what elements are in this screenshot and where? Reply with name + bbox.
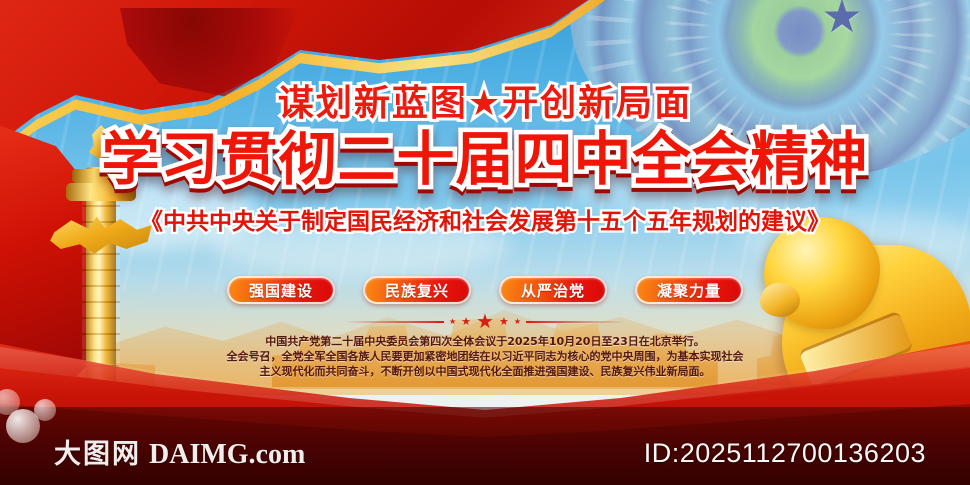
headline-subtitle: 《中共中央关于制定国民经济和社会发展第十五个五年规划的建议》: [0, 202, 970, 236]
headline-block: 谋划新蓝图★开创新局面 学习贯彻二十届四中全会精神 《中共中央关于制定国民经济和…: [0, 84, 970, 236]
watermark-domain: DAIMG.com: [149, 439, 305, 471]
pill-qiangguojianshe[interactable]: 强国建设: [227, 276, 335, 304]
pill-ningjuliliang[interactable]: 凝聚力量: [635, 276, 743, 304]
divider-star-center: ★: [476, 312, 494, 332]
headline-main-title: 学习贯彻二十届四中全会精神: [0, 128, 970, 192]
headline-line-1-part-a: 谋划新蓝图: [278, 83, 468, 124]
headline-star-icon: ★: [468, 83, 502, 124]
body-paragraph: 中国共产党第二十届中央委员会第四次全体会议于2025年10月20日至23日在北京…: [0, 334, 970, 379]
divider-star-sm-right: ★: [499, 317, 509, 328]
divider-rule-left: [344, 321, 444, 323]
paragraph-line-2: 全会号召，全党全军全国各族人民要更加紧密地团结在以习近平同志为核心的党中央周围，…: [0, 349, 970, 364]
site-watermark: 大图网 DAIMG.com: [54, 432, 305, 471]
divider-star-sm-left: ★: [461, 317, 471, 328]
divider-star-xs-right: ★: [514, 318, 521, 326]
watermark-chinese: 大图网: [54, 432, 141, 471]
paragraph-line-1: 中国共产党第二十届中央委员会第四次全体会议于2025年10月20日至23日在北京…: [0, 334, 970, 349]
pill-minzufuxing[interactable]: 民族复兴: [363, 276, 471, 304]
star-divider: ★ ★ ★ ★ ★: [0, 312, 970, 332]
asset-id-label: ID:2025112700136203: [644, 438, 926, 469]
bubble-decor: [34, 399, 56, 421]
keyword-pill-row: 强国建设 民族复兴 从严治党 凝聚力量: [0, 276, 970, 304]
pill-congyanzhidang[interactable]: 从严治党: [499, 276, 607, 304]
headline-line-1-part-b: 开创新局面: [502, 83, 692, 124]
divider-star-xs-left: ★: [449, 318, 456, 326]
headline-line-1: 谋划新蓝图★开创新局面: [0, 84, 970, 124]
poster-canvas: 谋划新蓝图★开创新局面 学习贯彻二十届四中全会精神 《中共中央关于制定国民经济和…: [0, 0, 970, 485]
paragraph-line-3: 主义现代化而共同奋斗，不断开创以中国式现代化全面推进强国建设、民族复兴伟业新局面…: [0, 364, 970, 379]
divider-rule-right: [526, 321, 626, 323]
